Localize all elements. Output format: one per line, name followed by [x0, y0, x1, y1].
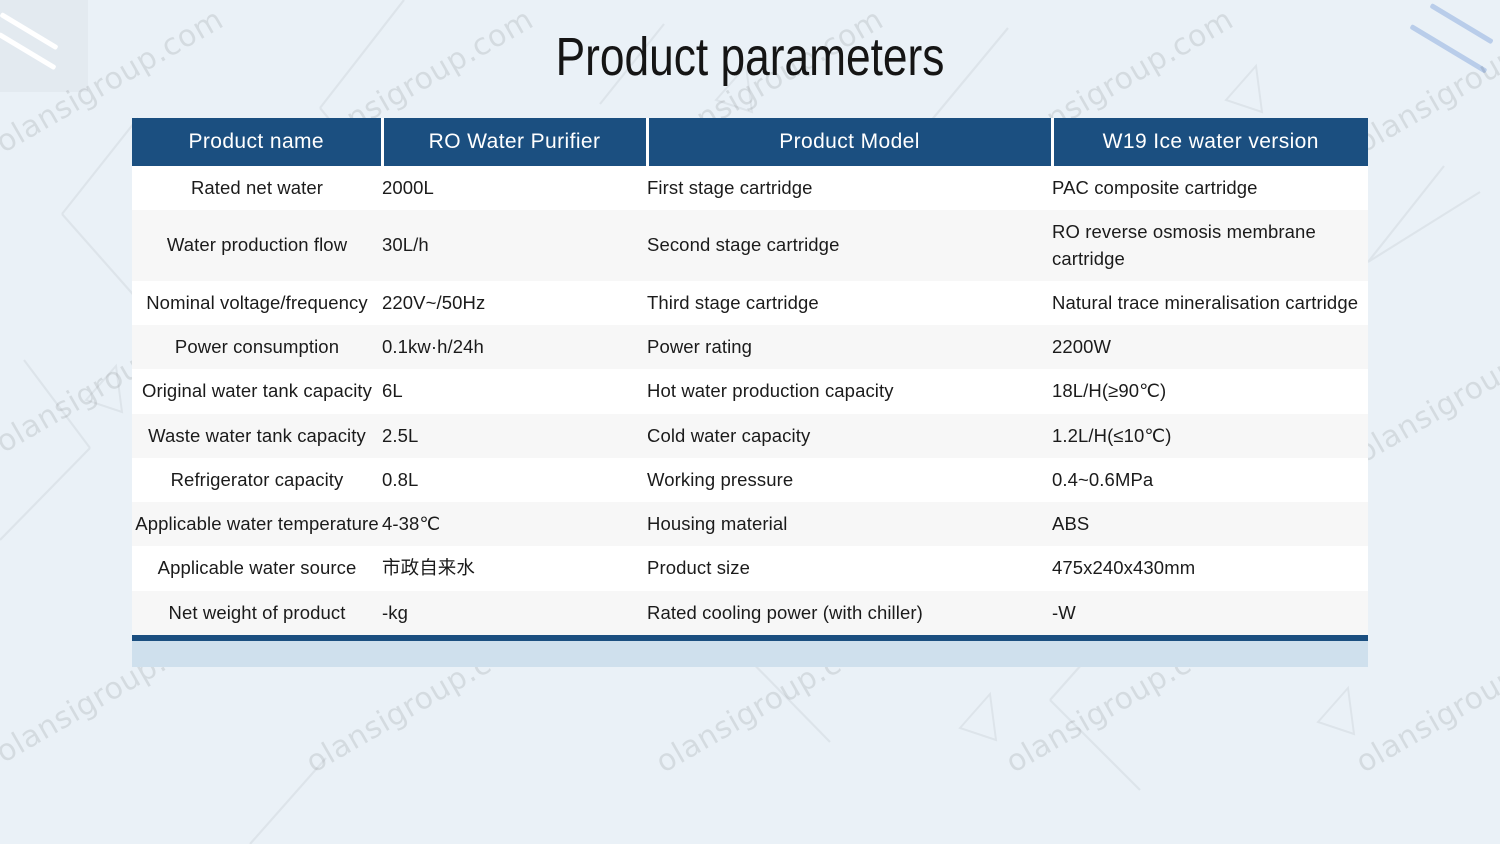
watermark: olansigroup.com — [1350, 312, 1500, 470]
row-label-a: Rated net water — [132, 166, 382, 210]
table-body: Rated net water 2000L First stage cartri… — [132, 166, 1368, 635]
column-header-product-name: Product name — [132, 118, 382, 166]
row-value-b: RO reverse osmosis membrane cartridge — [1052, 210, 1368, 281]
row-label-b: Product size — [647, 546, 1052, 590]
row-value-b: 2200W — [1052, 325, 1368, 369]
row-label-b: Housing material — [647, 502, 1052, 546]
row-value-b: 18L/H(≥90℃) — [1052, 369, 1368, 413]
row-label-b: Hot water production capacity — [647, 369, 1052, 413]
row-value-b: 1.2L/H(≤10℃) — [1052, 414, 1368, 458]
column-header-product-model: Product Model — [647, 118, 1052, 166]
row-label-a: Power consumption — [132, 325, 382, 369]
row-label-b: Cold water capacity — [647, 414, 1052, 458]
row-label-a: Original water tank capacity — [132, 369, 382, 413]
table-row: Rated net water 2000L First stage cartri… — [132, 166, 1368, 210]
product-parameters-table-wrapper: Product name RO Water Purifier Product M… — [132, 118, 1368, 667]
row-value-a: 市政自来水 — [382, 546, 647, 590]
row-label-a: Refrigerator capacity — [132, 458, 382, 502]
row-label-a: Water production flow — [132, 210, 382, 281]
row-value-b: ABS — [1052, 502, 1368, 546]
row-label-b: Third stage cartridge — [647, 281, 1052, 325]
row-value-a: 0.8L — [382, 458, 647, 502]
table-row: Water production flow 30L/h Second stage… — [132, 210, 1368, 281]
row-label-a: Applicable water source — [132, 546, 382, 590]
column-header-model-value: W19 Ice water version — [1052, 118, 1368, 166]
table-row: Power consumption 0.1kw·h/24h Power rati… — [132, 325, 1368, 369]
row-label-b: Rated cooling power (with chiller) — [647, 591, 1052, 635]
column-header-product-value: RO Water Purifier — [382, 118, 647, 166]
row-label-b: Power rating — [647, 325, 1052, 369]
row-label-a: Net weight of product — [132, 591, 382, 635]
row-label-a: Waste water tank capacity — [132, 414, 382, 458]
row-value-a: 30L/h — [382, 210, 647, 281]
row-value-a: -kg — [382, 591, 647, 635]
row-value-a: 2.5L — [382, 414, 647, 458]
row-value-a: 0.1kw·h/24h — [382, 325, 647, 369]
table-row: Applicable water temperature 4-38℃ Housi… — [132, 502, 1368, 546]
table-row: Refrigerator capacity 0.8L Working press… — [132, 458, 1368, 502]
table-row: Nominal voltage/frequency 220V~/50Hz Thi… — [132, 281, 1368, 325]
table-row: Applicable water source 市政自来水 Product si… — [132, 546, 1368, 590]
table-row: Original water tank capacity 6L Hot wate… — [132, 369, 1368, 413]
row-value-a: 2000L — [382, 166, 647, 210]
watermark: olansigroup.com — [1350, 622, 1500, 780]
row-value-b: 0.4~0.6MPa — [1052, 458, 1368, 502]
table-row: Net weight of product -kg Rated cooling … — [132, 591, 1368, 635]
table-row: Waste water tank capacity 2.5L Cold wate… — [132, 414, 1368, 458]
table-header: Product name RO Water Purifier Product M… — [132, 118, 1368, 166]
page-title: Product parameters — [135, 26, 1365, 88]
row-value-b: -W — [1052, 591, 1368, 635]
slide-canvas: olansigroup.com olansigroup.com olansigr… — [0, 0, 1500, 844]
table-header-row: Product name RO Water Purifier Product M… — [132, 118, 1368, 166]
watermark: olansigroup.com — [1350, 2, 1500, 160]
row-value-b: PAC composite cartridge — [1052, 166, 1368, 210]
row-label-a: Nominal voltage/frequency — [132, 281, 382, 325]
row-value-b: 475x240x430mm — [1052, 546, 1368, 590]
row-label-b: Working pressure — [647, 458, 1052, 502]
decorative-blue-line-1 — [1429, 3, 1493, 44]
row-label-b: Second stage cartridge — [647, 210, 1052, 281]
product-parameters-table: Product name RO Water Purifier Product M… — [132, 118, 1368, 635]
row-value-a: 6L — [382, 369, 647, 413]
row-value-b: Natural trace mineralisation cartridge — [1052, 281, 1368, 325]
row-value-a: 220V~/50Hz — [382, 281, 647, 325]
row-label-b: First stage cartridge — [647, 166, 1052, 210]
row-value-a: 4-38℃ — [382, 502, 647, 546]
table-bottom-band — [132, 641, 1368, 667]
row-label-a: Applicable water temperature — [132, 502, 382, 546]
